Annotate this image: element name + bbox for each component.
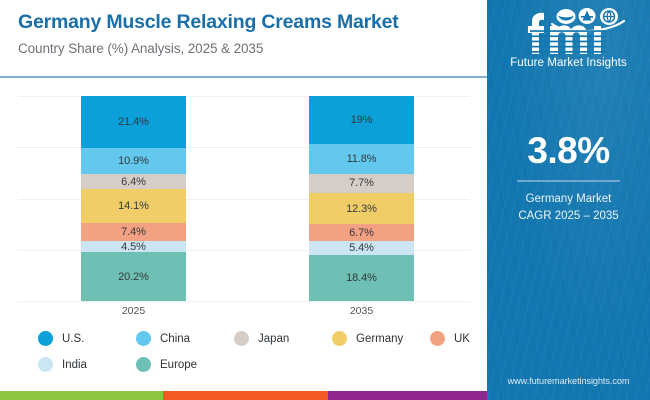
chart-panel: Germany Muscle Relaxing Creams Market Co…	[0, 0, 487, 391]
bar-segment-label: 11.8%	[347, 153, 377, 165]
legend-label: Europe	[160, 359, 197, 371]
page-subtitle: Country Share (%) Analysis, 2025 & 2035	[18, 41, 473, 56]
legend-swatch-icon	[430, 331, 445, 346]
legend-label: U.S.	[62, 333, 84, 345]
cagr-callout: 3.8% Germany Market CAGR 2025 – 2035	[487, 132, 650, 226]
legend-item-japan[interactable]: Japan	[234, 331, 289, 346]
chart-header: Germany Muscle Relaxing Creams Market Co…	[18, 10, 473, 56]
bar-segment-label: 4.5%	[121, 241, 146, 252]
bar-segment-uk-2025[interactable]: 7.4%	[81, 223, 186, 241]
legend-swatch-icon	[136, 357, 151, 372]
cagr-divider	[517, 180, 620, 182]
bar-segment-japan-2025[interactable]: 6.4%	[81, 174, 186, 189]
bar-segment-label: 12.3%	[346, 203, 377, 215]
bar-segment-china-2025[interactable]: 10.9%	[81, 148, 186, 174]
legend-item-china[interactable]: China	[136, 331, 190, 346]
bar-segment-india-2035[interactable]: 5.4%	[309, 241, 414, 255]
x-axis: 2025 2035	[18, 305, 470, 321]
legend-label: UK	[454, 333, 470, 345]
stacked-bar-2025[interactable]: 21.4%10.9%6.4%14.1%7.4%4.5%20.2%	[81, 96, 186, 301]
page-title: Germany Muscle Relaxing Creams Market	[18, 10, 473, 34]
legend-label: China	[160, 333, 190, 345]
legend-item-europe[interactable]: Europe	[136, 357, 197, 372]
legend-label: India	[62, 359, 87, 371]
bar-segment-label: 21.4%	[118, 116, 149, 128]
legend-item-india[interactable]: India	[38, 357, 87, 372]
legend-swatch-icon	[234, 331, 249, 346]
cagr-caption-line-2: CAGR 2025 – 2035	[518, 208, 618, 226]
bar-segment-india-2025[interactable]: 4.5%	[81, 241, 186, 252]
brand-name: Future Market Insights	[510, 57, 627, 69]
bar-segment-europe-2025[interactable]: 20.2%	[81, 252, 186, 301]
cagr-caption-line-1: Germany Market	[526, 191, 612, 209]
bar-segment-us-2025[interactable]: 21.4%	[81, 96, 186, 148]
chart-legend: U.S.ChinaJapanGermanyUKIndiaEurope	[38, 331, 468, 381]
bar-segment-europe-2035[interactable]: 18.4%	[309, 255, 414, 301]
legend-item-uk[interactable]: UK	[430, 331, 470, 346]
legend-swatch-icon	[38, 357, 53, 372]
accent-bar-green	[0, 391, 163, 400]
bar-segment-japan-2035[interactable]: 7.7%	[309, 174, 414, 193]
x-axis-tick-2025: 2025	[81, 305, 186, 317]
bar-segment-label: 6.7%	[349, 227, 374, 239]
accent-bar-orange	[163, 391, 328, 400]
bar-segment-germany-2025[interactable]: 14.1%	[81, 189, 186, 223]
legend-label: Germany	[356, 333, 403, 345]
accent-bar-purple	[328, 391, 487, 400]
legend-item-germany[interactable]: Germany	[332, 331, 403, 346]
bar-segment-china-2035[interactable]: 11.8%	[309, 144, 414, 174]
bar-segment-uk-2035[interactable]: 6.7%	[309, 224, 414, 241]
fmi-logo-icon	[510, 8, 628, 55]
legend-swatch-icon	[38, 331, 53, 346]
bar-segment-us-2035[interactable]: 19%	[309, 96, 414, 144]
legend-item-us[interactable]: U.S.	[38, 331, 84, 346]
brand-logo: Future Market Insights	[487, 8, 650, 69]
bar-segment-label: 7.7%	[349, 177, 374, 189]
bar-segment-label: 5.4%	[349, 242, 374, 254]
website-url[interactable]: www.futuremarketinsights.com	[487, 376, 650, 386]
stacked-bar-2035[interactable]: 19%11.8%7.7%12.3%6.7%5.4%18.4%	[309, 96, 414, 301]
infographic-root: Germany Muscle Relaxing Creams Market Co…	[0, 0, 650, 400]
legend-label: Japan	[258, 333, 289, 345]
x-axis-tick-2035: 2035	[309, 305, 414, 317]
bar-segment-germany-2035[interactable]: 12.3%	[309, 193, 414, 224]
legend-swatch-icon	[136, 331, 151, 346]
gridline	[18, 301, 470, 302]
legend-swatch-icon	[332, 331, 347, 346]
bar-segment-label: 10.9%	[118, 155, 149, 167]
cagr-value: 3.8%	[527, 132, 609, 169]
chart-plot-area: 21.4%10.9%6.4%14.1%7.4%4.5%20.2%19%11.8%…	[18, 96, 470, 301]
header-divider	[0, 76, 487, 78]
bar-segment-label: 18.4%	[346, 272, 377, 284]
bar-segment-label: 14.1%	[118, 200, 149, 212]
bar-segment-label: 20.2%	[118, 271, 149, 283]
bar-segment-label: 6.4%	[121, 176, 146, 188]
brand-panel: Future Market Insights 3.8% Germany Mark…	[487, 0, 650, 400]
bar-segment-label: 19%	[351, 114, 373, 126]
bar-segment-label: 7.4%	[121, 226, 146, 238]
